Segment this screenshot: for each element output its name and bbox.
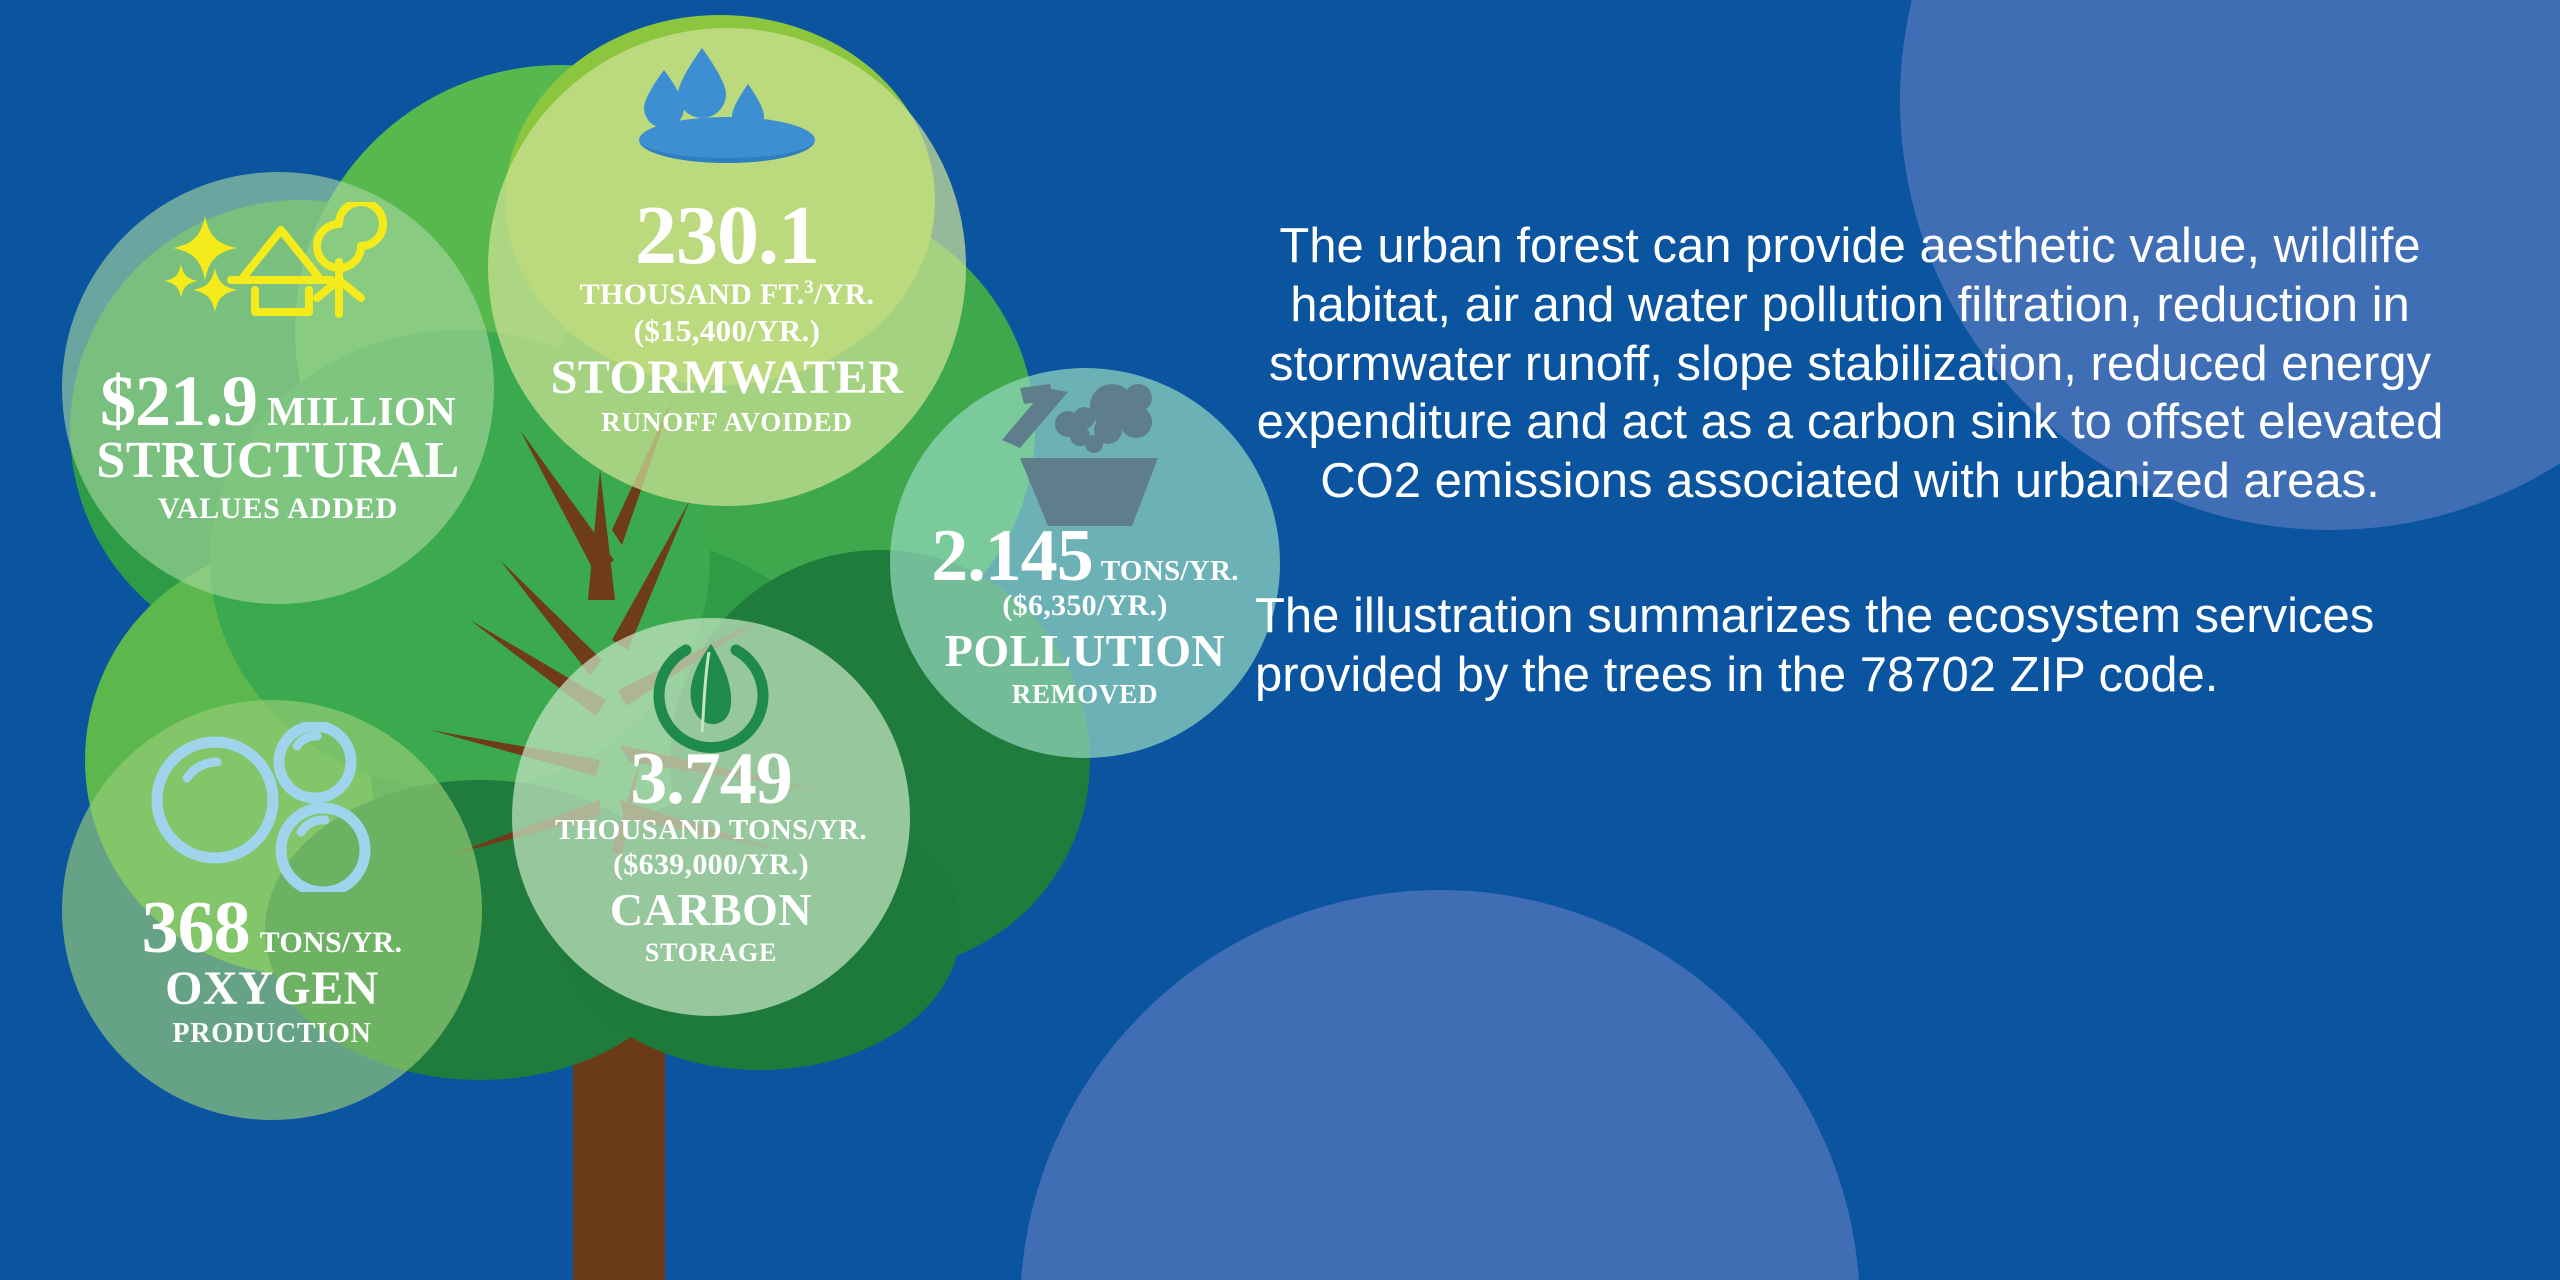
stat-subtitle-stormwater: RUNOFF AVOIDED [551,407,904,438]
stat-title-structural: STRUCTURAL [96,431,459,490]
stat-bubble-pollution[interactable]: 2.145TONS/YR. ($6,350/YR.) POLLUTION REM… [890,368,1280,758]
stat-title-stormwater: STORMWATER [551,350,904,405]
stat-bubble-carbon[interactable]: 3.749 THOUSAND TONS/YR. ($639,000/YR.) C… [512,618,910,1016]
stat-value-structural: $21.9 [100,361,257,441]
smokestack-bucket-icon [890,378,1280,528]
stat-title-carbon: CARBON [555,883,867,936]
stat-unit-exponent-stormwater: 3 [804,277,814,298]
stat-paren-stormwater: ($15,400/YR.) [551,313,904,349]
stat-unit-prefix-stormwater: THOUSAND FT. [580,278,805,311]
paragraph-illustration-note: The illustration summarizes the ecosyste… [1255,587,2445,705]
oxygen-bubbles-icon [62,722,482,892]
stat-bubble-oxygen[interactable]: 368TONS/YR. OXYGEN PRODUCTION [62,700,482,1120]
stat-value-stormwater: 230.1 [551,196,904,276]
stat-unit-structural: MILLION [267,388,456,434]
sparkle-house-tree-icon [62,202,494,322]
stat-bubble-structural[interactable]: $21.9MILLION STRUCTURAL VALUES ADDED [62,172,494,604]
stat-subtitle-oxygen: PRODUCTION [142,1018,403,1050]
stat-paren-carbon: ($639,000/YR.) [555,848,867,882]
stat-unit-suffix-stormwater: /YR. [814,278,874,311]
paragraph-ecosystem-benefits: The urban forest can provide aesthetic v… [1255,217,2445,511]
stat-title-pollution: POLLUTION [931,624,1239,677]
stat-subtitle-carbon: STORAGE [555,938,867,968]
water-droplets-puddle-icon [488,36,966,166]
stat-title-oxygen: OXYGEN [142,961,403,1016]
stat-unit-pollution: TONS/YR. [1101,555,1239,587]
stat-subtitle-pollution: REMOVED [931,679,1239,710]
stat-unit-carbon: THOUSAND TONS/YR. [555,814,867,847]
stat-unit-oxygen: TONS/YR. [260,926,403,959]
stat-subtitle-structural: VALUES ADDED [96,492,459,526]
infographic-canvas: $21.9MILLION STRUCTURAL VALUES ADDED 230… [0,0,2560,1280]
stat-value-oxygen: 368 [142,887,250,969]
leaf-in-circle-icon [512,636,910,758]
description-panel: The urban forest can provide aesthetic v… [1255,168,2445,754]
